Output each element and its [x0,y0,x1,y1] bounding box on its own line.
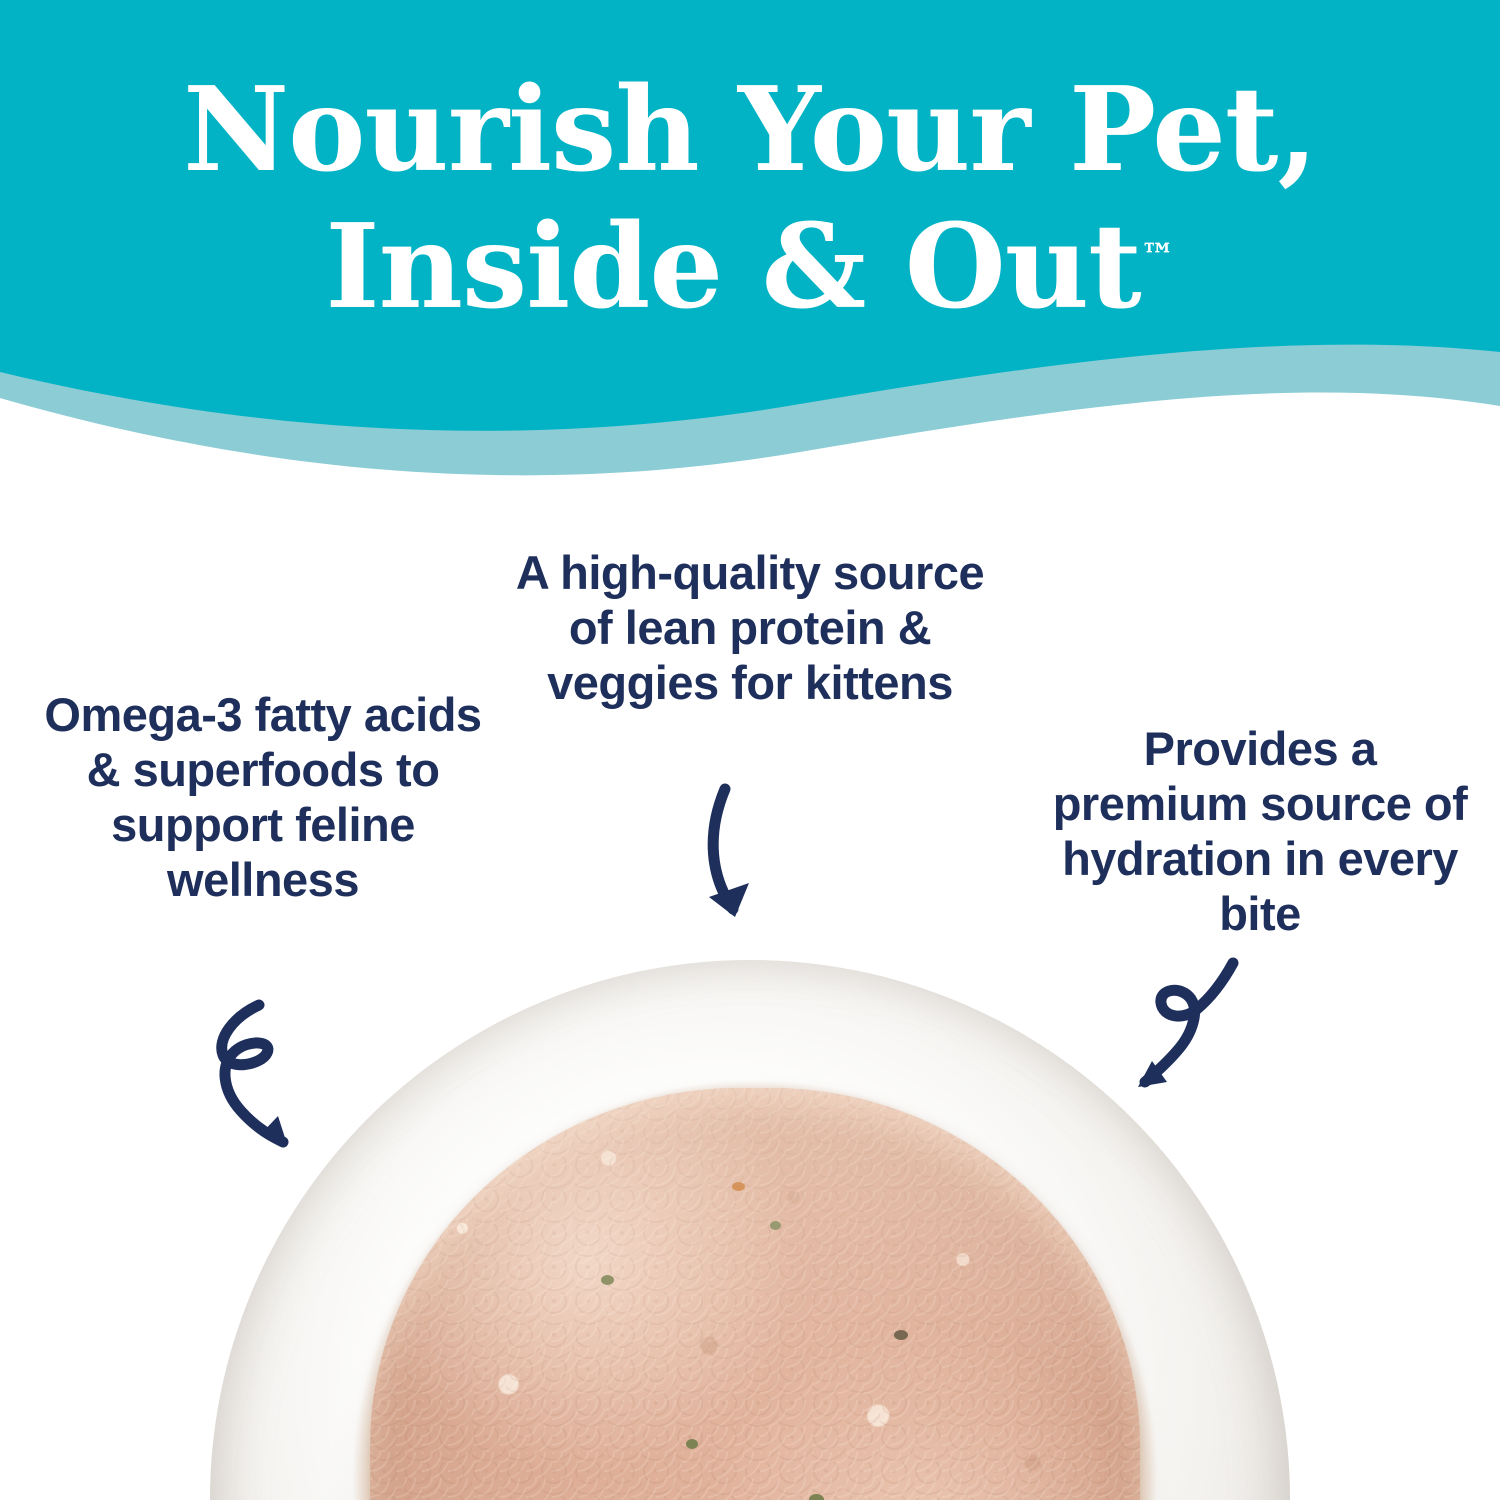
food-grain [370,1088,1140,1500]
loop-arrow-down-left-icon [1105,955,1280,1110]
pate-food [370,1088,1140,1500]
callout-omega-text: Omega-3 fatty acids & superfoods to supp… [28,688,498,908]
veggie-fleck [809,1494,824,1500]
veggie-fleck [770,1221,781,1230]
callout-hydration-text: Provides a premium source of hydration i… [1040,722,1480,942]
banner-wave-shape [0,0,1500,510]
callout-protein-text: A high-quality source of lean protein & … [500,546,1000,711]
curved-arrow-down-icon [665,775,805,940]
veggie-fleck [686,1439,698,1449]
carrot-fleck [732,1182,745,1191]
curly-loop-arrow-down-right-icon [175,995,345,1155]
arrow-head [709,883,749,917]
header-banner: Nourish Your Pet, Inside & Out™ [0,0,1500,510]
veggie-fleck [894,1330,908,1340]
product-feature-infographic: Nourish Your Pet, Inside & Out™ Omega-3 … [0,0,1500,1500]
